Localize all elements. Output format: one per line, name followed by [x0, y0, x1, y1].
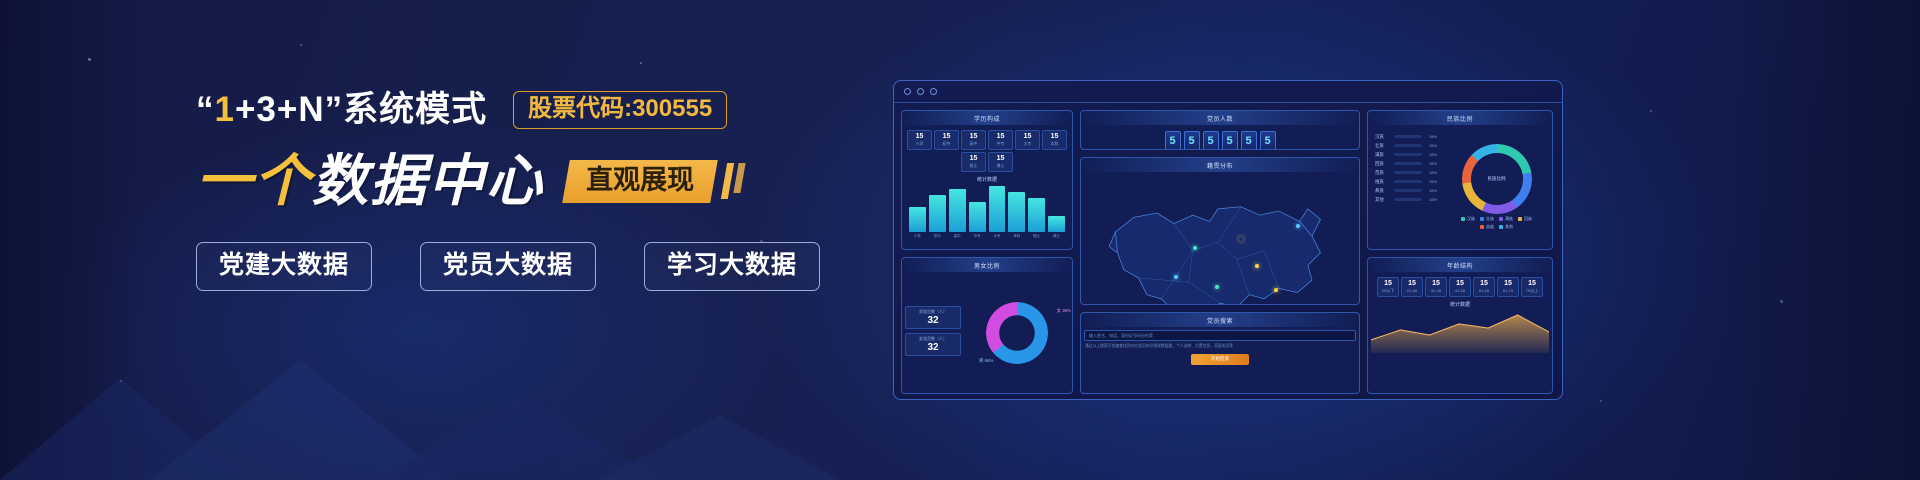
- hero-number-one: 1: [215, 90, 235, 129]
- education-stat-value: 15: [962, 155, 985, 162]
- member-count-digits: 5 5 5 5 5 5: [1081, 125, 1359, 150]
- education-stat-cell: 15高中: [961, 130, 986, 150]
- education-bar: [1048, 216, 1065, 232]
- pill-study-bigdata[interactable]: 学习大数据: [644, 242, 820, 291]
- age-area-chart-svg: [1371, 309, 1549, 353]
- age-stat-cell: 1541-50: [1449, 277, 1471, 297]
- nation-donut-container: 民族比例: [1462, 144, 1532, 214]
- nation-legend-item: 苗族: [1480, 224, 1494, 230]
- dashboard-column-left: 学历构成 15小学 15初中 15高中 15中专 15大专 15本科 15硕士 …: [901, 110, 1073, 394]
- nation-label: 维族: [1375, 179, 1391, 185]
- education-bar: [929, 195, 946, 232]
- gender-female-value: 32: [910, 342, 956, 353]
- map-hotspot: [1296, 224, 1300, 228]
- visual-badge-group: 直观展现: [566, 160, 743, 203]
- age-stat-value: 15: [1426, 280, 1446, 287]
- nation-label: 彝族: [1375, 188, 1391, 194]
- nation-track: [1394, 180, 1422, 183]
- education-bar: [1008, 192, 1025, 232]
- education-stat-label: 博士: [989, 163, 1012, 169]
- dashboard-titlebar: [894, 81, 1562, 103]
- education-axis-tick: 中专: [969, 233, 986, 238]
- china-map: [1084, 175, 1356, 305]
- member-search-input[interactable]: 输入姓名、电话、身份证号码分检索: [1084, 330, 1356, 341]
- slash-mark-1: [721, 163, 734, 199]
- panel-nation-ratio[interactable]: 民族比例 汉族15% 壮族15% 满族15% 回族15% 苗族15% 维族15%…: [1367, 110, 1553, 250]
- age-stat-value: 15: [1474, 280, 1494, 287]
- age-area-chart: [1371, 309, 1549, 353]
- nation-ratio-row: 回族15%: [1371, 159, 1441, 168]
- panel-member-count[interactable]: 党员人数 5 5 5 5 5 5: [1080, 110, 1360, 150]
- window-dot-3: [930, 88, 937, 95]
- panel-member-search[interactable]: 党员搜索 输入姓名、电话、身份证号码分检索 通过以上搜索可快速查找到对应党员的详…: [1080, 312, 1360, 394]
- age-stat-cell: 1561-70: [1497, 277, 1519, 297]
- nation-donut-center-label: 民族比例: [1462, 144, 1532, 214]
- nation-value: 15%: [1425, 152, 1437, 157]
- member-count-digit: 5: [1165, 131, 1181, 150]
- pill-party-member-bigdata[interactable]: 党员大数据: [420, 242, 596, 291]
- nation-track: [1394, 189, 1422, 192]
- age-stat-cell: 1551-60: [1473, 277, 1495, 297]
- hero-title-line2-white: 数据中心: [312, 149, 544, 212]
- age-stat-label: 70以上: [1522, 288, 1542, 294]
- education-axis-tick: 初中: [929, 233, 946, 238]
- age-stat-value: 15: [1378, 280, 1398, 287]
- hero-content: “1+3+N”系统模式 股票代码:300555 一个数据中心 直观展现 党建大数…: [196, 86, 836, 291]
- age-stat-cell: 1531-40: [1425, 277, 1447, 297]
- age-stat-cell: 1521-30: [1401, 277, 1423, 297]
- education-stat-cell: 15中专: [988, 130, 1013, 150]
- education-stat-label: 高中: [962, 141, 985, 147]
- gender-female-box: 女党员数（人） 32: [905, 333, 961, 356]
- nation-ratio-row: 满族15%: [1371, 150, 1441, 159]
- education-stat-value: 15: [1043, 133, 1066, 140]
- nation-value: 15%: [1425, 170, 1437, 175]
- slash-mark-2: [733, 163, 745, 193]
- nation-legend-item: 壮族: [1480, 216, 1494, 222]
- slash-decoration: [724, 163, 743, 199]
- hero-title-line1: “1+3+N”系统模式: [196, 86, 487, 134]
- visual-display-badge-label: 直观展现: [586, 167, 694, 194]
- member-count-digit: 5: [1260, 131, 1276, 150]
- education-stat-label: 中专: [989, 141, 1012, 147]
- nation-ratio-row: 其他15%: [1371, 195, 1441, 204]
- member-count-digit: 5: [1184, 131, 1200, 150]
- nation-ratio-row: 维族15%: [1371, 177, 1441, 186]
- education-stat-cell: 15初中: [934, 130, 959, 150]
- window-dot-1: [904, 88, 911, 95]
- start-search-button[interactable]: 开始检索: [1191, 354, 1249, 365]
- nation-legend-item: 满族: [1499, 216, 1513, 222]
- hero-title-line2-gold: 一个: [196, 149, 312, 212]
- nation-donut-wrap: 民族比例 汉族 壮族 满族 回族 苗族 其他: [1444, 128, 1549, 246]
- pill-party-building-bigdata[interactable]: 党建大数据: [196, 242, 372, 291]
- education-stat-grid: 15小学 15初中 15高中 15中专 15大专 15本科 15硕士 15博士: [905, 128, 1069, 174]
- education-axis-tick: 本科: [1008, 233, 1025, 238]
- education-stat-cell: 15本科: [1042, 130, 1067, 150]
- education-axis-tick: 大专: [989, 233, 1006, 238]
- hero-line-1: “1+3+N”系统模式 股票代码:300555: [196, 86, 836, 134]
- education-axis-tick: 硕士: [1028, 233, 1045, 238]
- nation-legend-label: 回族: [1524, 216, 1532, 221]
- education-bar: [949, 189, 966, 232]
- education-stat-label: 初中: [935, 141, 958, 147]
- member-count-digit: 5: [1222, 131, 1238, 150]
- panel-search-title: 党员搜索: [1081, 313, 1359, 327]
- hero-quote-open: “: [196, 90, 215, 129]
- panel-origin-distribution-map[interactable]: 籍贯分布: [1080, 157, 1360, 305]
- nation-ratio-row: 汉族15%: [1371, 132, 1441, 141]
- age-stat-value: 15: [1498, 280, 1518, 287]
- nation-track: [1394, 198, 1422, 201]
- panel-map-body: [1081, 172, 1359, 305]
- nation-track: [1394, 171, 1422, 174]
- visual-display-badge: 直观展现: [562, 160, 718, 203]
- nation-ratio-row: 彝族15%: [1371, 186, 1441, 195]
- nation-donut-legend: 汉族 壮族 满族 回族 苗族 其他: [1456, 214, 1538, 230]
- panel-map-title: 籍贯分布: [1081, 158, 1359, 172]
- nation-track: [1394, 135, 1422, 138]
- stock-code-badge: 股票代码:300555: [513, 91, 727, 129]
- education-bar: [989, 186, 1006, 232]
- nation-value: 15%: [1425, 134, 1437, 139]
- age-stat-cell: 1520以下: [1377, 277, 1399, 297]
- education-stat-label: 硕士: [962, 163, 985, 169]
- panel-gender-title: 男女比例: [902, 258, 1072, 272]
- nation-label: 汉族: [1375, 134, 1391, 140]
- age-stat-value: 15: [1522, 280, 1542, 287]
- hero-pill-row: 党建大数据 党员大数据 学习大数据: [196, 242, 836, 291]
- nation-legend-item: 其他: [1499, 224, 1513, 230]
- nation-label: 其他: [1375, 197, 1391, 203]
- nation-track: [1394, 162, 1422, 165]
- panel-education-body: 15小学 15初中 15高中 15中专 15大专 15本科 15硕士 15博士 …: [902, 125, 1072, 249]
- education-axis-tick: 博士: [1048, 233, 1065, 238]
- member-count-digit: 5: [1203, 131, 1219, 150]
- education-bar-chart: [905, 184, 1069, 232]
- age-stat-label: 31-40: [1426, 288, 1446, 293]
- education-stat-value: 15: [908, 133, 931, 140]
- gender-male-value: 32: [910, 315, 956, 326]
- age-stat-grid: 1520以下 1521-30 1531-40 1541-50 1551-60 1…: [1371, 275, 1549, 299]
- member-count-digit: 5: [1241, 131, 1257, 150]
- nation-legend-label: 壮族: [1486, 216, 1494, 221]
- education-stat-label: 本科: [1043, 141, 1066, 147]
- education-axis-tick: 小学: [909, 233, 926, 238]
- age-stat-label: 61-70: [1498, 288, 1518, 293]
- nation-legend-item: 汉族: [1461, 216, 1475, 222]
- panel-age-structure[interactable]: 年龄结构 1520以下 1521-30 1531-40 1541-50 1551…: [1367, 257, 1553, 394]
- nation-legend-label: 苗族: [1486, 224, 1494, 229]
- education-stat-value: 15: [935, 133, 958, 140]
- age-stat-label: 21-30: [1402, 288, 1422, 293]
- gender-female-pct-label: 女 36%: [1057, 308, 1071, 314]
- nation-legend-label: 汉族: [1467, 216, 1475, 221]
- gender-male-pct-label: 男 64%: [979, 358, 993, 364]
- age-stat-label: 41-50: [1450, 288, 1470, 293]
- nation-track: [1394, 153, 1422, 156]
- education-stat-cell: 15小学: [907, 130, 932, 150]
- gender-male-box: 男党员数（人） 32: [905, 306, 961, 329]
- panel-education-title: 学历构成: [902, 111, 1072, 125]
- panel-age-body: 1520以下 1521-30 1531-40 1541-50 1551-60 1…: [1368, 272, 1552, 393]
- education-stat-cell: 15博士: [988, 152, 1013, 172]
- member-search-note: 通过以上搜索可快速查找到对应党员的详细党数据据，个人选修、位置信息，家庭成员等: [1081, 344, 1359, 350]
- nation-label: 壮族: [1375, 143, 1391, 149]
- nation-legend-item: 回族: [1518, 216, 1532, 222]
- education-stat-label: 大专: [1016, 141, 1039, 147]
- dashboard-column-center: 党员人数 5 5 5 5 5 5 籍贯分布: [1080, 110, 1360, 394]
- map-hotspot: [1239, 237, 1243, 241]
- nation-label: 回族: [1375, 161, 1391, 167]
- nation-value: 15%: [1425, 143, 1437, 148]
- panel-gender-body: 男党员数（人） 32 女党员数（人） 32 女 36% 男 64%: [902, 272, 1072, 393]
- panel-nation-body: 汉族15% 壮族15% 满族15% 回族15% 苗族15% 维族15% 彝族15…: [1368, 125, 1552, 249]
- hero-title-line2: 一个数据中心: [196, 150, 544, 212]
- nation-ratio-row: 苗族15%: [1371, 168, 1441, 177]
- education-stat-cell: 15大专: [1015, 130, 1040, 150]
- education-bar: [969, 202, 986, 232]
- education-axis-tick: 高中: [949, 233, 966, 238]
- hero-line-2: 一个数据中心 直观展现: [196, 150, 836, 212]
- age-stat-value: 15: [1450, 280, 1470, 287]
- age-stat-cell: 1570以上: [1521, 277, 1543, 297]
- nation-value: 15%: [1425, 188, 1437, 193]
- dashboard-mockup: 学历构成 15小学 15初中 15高中 15中专 15大专 15本科 15硕士 …: [893, 80, 1563, 400]
- age-chart-caption: 统计数据: [1371, 299, 1549, 309]
- panel-education-structure[interactable]: 学历构成 15小学 15初中 15高中 15中专 15大专 15本科 15硕士 …: [901, 110, 1073, 250]
- nation-legend-label: 满族: [1505, 216, 1513, 221]
- hero-title-line1-rest: +3+N”系统模式: [235, 90, 487, 129]
- education-stat-cell: 15硕士: [961, 152, 986, 172]
- panel-age-title: 年龄结构: [1368, 258, 1552, 272]
- panel-nation-title: 民族比例: [1368, 111, 1552, 125]
- gender-donut-chart: [986, 302, 1048, 364]
- nation-label: 苗族: [1375, 170, 1391, 176]
- nation-value: 15%: [1425, 197, 1437, 202]
- age-stat-value: 15: [1402, 280, 1422, 287]
- nation-value: 15%: [1425, 161, 1437, 166]
- nation-legend-label: 其他: [1505, 224, 1513, 229]
- nation-value: 15%: [1425, 179, 1437, 184]
- age-stat-label: 20以下: [1378, 288, 1398, 294]
- education-stat-value: 15: [1016, 133, 1039, 140]
- nation-label: 满族: [1375, 152, 1391, 158]
- education-stat-label: 小学: [908, 141, 931, 147]
- gender-stat-boxes: 男党员数（人） 32 女党员数（人） 32: [905, 306, 961, 360]
- gender-donut-wrap: 女 36% 男 64%: [965, 302, 1069, 364]
- china-map-outline: [1084, 175, 1356, 305]
- education-stat-value: 15: [962, 133, 985, 140]
- education-bar: [1028, 198, 1045, 232]
- dashboard-body: 学历构成 15小学 15初中 15高中 15中专 15大专 15本科 15硕士 …: [894, 103, 1562, 400]
- nation-ratio-bars: 汉族15% 壮族15% 满族15% 回族15% 苗族15% 维族15% 彝族15…: [1371, 128, 1441, 246]
- map-hotspot: [1215, 285, 1219, 289]
- education-stat-value: 15: [989, 155, 1012, 162]
- nation-track: [1394, 144, 1422, 147]
- panel-gender-ratio[interactable]: 男女比例 男党员数（人） 32 女党员数（人） 32: [901, 257, 1073, 394]
- education-axis-labels: 小学 初中 高中 中专 大专 本科 硕士 博士: [905, 232, 1069, 238]
- education-stat-value: 15: [989, 133, 1012, 140]
- window-dot-2: [917, 88, 924, 95]
- education-bar: [909, 207, 926, 232]
- education-chart-caption: 统计数据: [905, 174, 1069, 184]
- age-stat-label: 51-60: [1474, 288, 1494, 293]
- dashboard-column-right: 民族比例 汉族15% 壮族15% 满族15% 回族15% 苗族15% 维族15%…: [1367, 110, 1553, 394]
- panel-member-count-title: 党员人数: [1081, 111, 1359, 125]
- nation-ratio-row: 壮族15%: [1371, 141, 1441, 150]
